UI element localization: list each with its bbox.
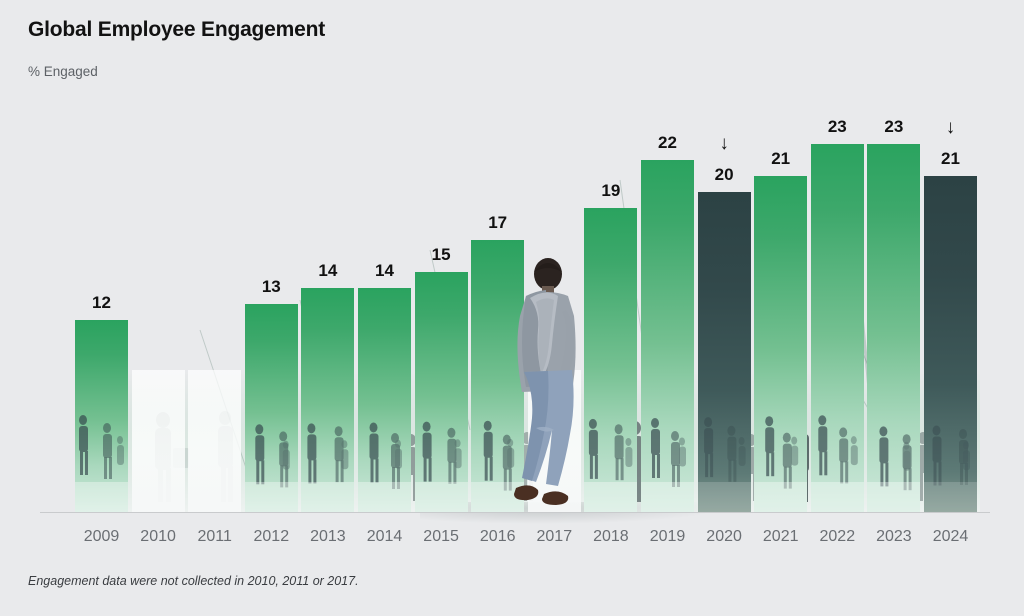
bar-crowd-silhouettes	[415, 362, 468, 512]
bar-crowd-silhouettes	[811, 362, 864, 512]
bar-value-label-2020: 20	[694, 165, 754, 185]
x-axis-label-2021: 2021	[749, 528, 813, 546]
bar-crowd-silhouettes	[245, 362, 298, 512]
x-axis-label-2012: 2012	[239, 528, 303, 546]
x-axis-label-2016: 2016	[466, 528, 530, 546]
bar-value-label-2018: 19	[581, 181, 641, 201]
bar-crowd-silhouettes	[867, 362, 920, 512]
chart-footnote: Engagement data were not collected in 20…	[28, 574, 359, 588]
x-axis-label-2015: 2015	[409, 528, 473, 546]
bar-value-label-2016: 17	[468, 213, 528, 233]
decline-arrow-icon-2020: ↓	[704, 134, 744, 153]
bar-2022[interactable]	[811, 144, 864, 512]
bar-value-label-2012: 13	[241, 277, 301, 297]
x-axis-label-2023: 2023	[862, 528, 926, 546]
bar-2024[interactable]	[924, 176, 977, 512]
bar-crowd-silhouettes	[754, 362, 807, 512]
decline-arrow-icon-2024: ↓	[931, 118, 971, 137]
bar-2013[interactable]	[301, 288, 354, 512]
bar-2020[interactable]	[698, 192, 751, 512]
foreground-person-illustration	[500, 252, 592, 512]
bar-value-label-2024: 21	[921, 149, 981, 169]
bar-value-label-2022: 23	[807, 117, 867, 137]
x-axis-label-2014: 2014	[353, 528, 417, 546]
bar-value-label-2023: 23	[864, 117, 924, 137]
bar-value-label-2019: 22	[638, 133, 698, 153]
x-axis-label-2013: 2013	[296, 528, 360, 546]
chart-canvas: Global Employee Engagement % Engaged	[0, 0, 1024, 616]
x-axis-label-2011: 2011	[183, 528, 247, 546]
missing-year-column-2011	[188, 370, 241, 512]
bar-value-label-2021: 21	[751, 149, 811, 169]
x-axis-label-2017: 2017	[522, 528, 586, 546]
bar-2018[interactable]	[584, 208, 637, 512]
bar-crowd-silhouettes	[698, 362, 751, 512]
x-axis-label-2024: 2024	[919, 528, 983, 546]
x-axis-label-2018: 2018	[579, 528, 643, 546]
bar-2015[interactable]	[415, 272, 468, 512]
bar-crowd-silhouettes	[924, 362, 977, 512]
missing-year-column-2010	[132, 370, 185, 512]
bar-value-label-2015: 15	[411, 245, 471, 265]
bar-2012[interactable]	[245, 304, 298, 512]
x-axis-label-2010: 2010	[126, 528, 190, 546]
x-axis-label-2022: 2022	[805, 528, 869, 546]
bar-crowd-silhouettes	[641, 362, 694, 512]
bar-crowd-silhouettes	[358, 362, 411, 512]
bar-crowd-silhouettes	[584, 362, 637, 512]
x-axis-label-2019: 2019	[636, 528, 700, 546]
bar-2021[interactable]	[754, 176, 807, 512]
bar-2023[interactable]	[867, 144, 920, 512]
bar-2009[interactable]	[75, 320, 128, 512]
axis-baseline	[40, 512, 990, 513]
bar-2014[interactable]	[358, 288, 411, 512]
bar-crowd-silhouettes	[75, 362, 128, 512]
x-axis-label-2009: 2009	[70, 528, 134, 546]
x-axis-label-2020: 2020	[692, 528, 756, 546]
bar-2019[interactable]	[641, 160, 694, 512]
bar-value-label-2009: 12	[72, 293, 132, 313]
bar-crowd-silhouettes	[301, 362, 354, 512]
bar-value-label-2014: 14	[355, 261, 415, 281]
bar-value-label-2013: 14	[298, 261, 358, 281]
